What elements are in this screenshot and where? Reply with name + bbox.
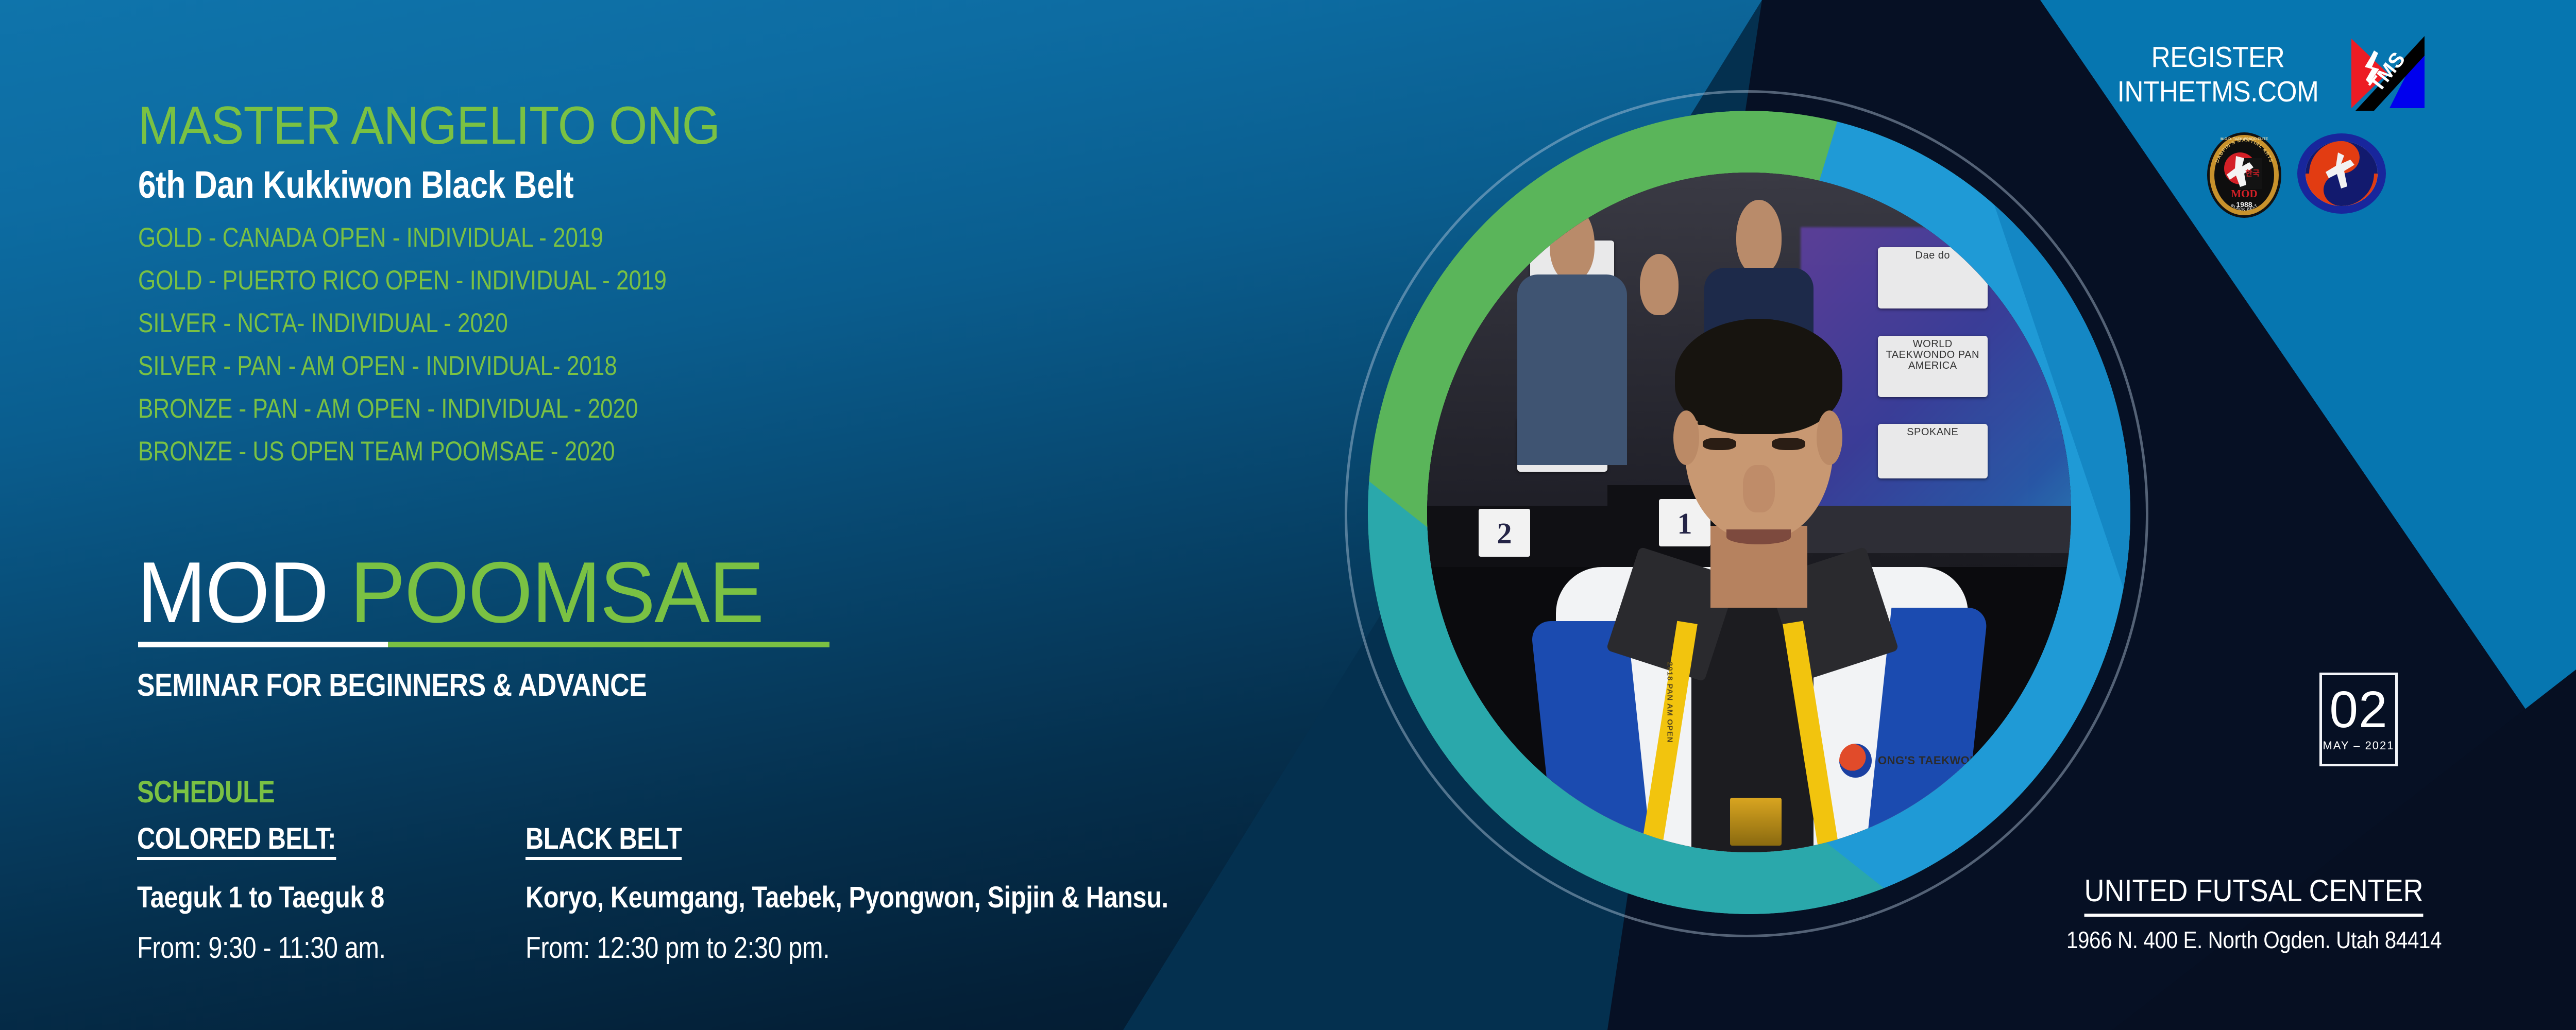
- award-item: BRONZE - US OPEN TEAM POOMSAE - 2020: [138, 438, 779, 465]
- photo-master-ear-left: [1673, 410, 1699, 465]
- event-date-day: 02: [2329, 686, 2387, 733]
- awards-list: GOLD - CANADA OPEN - INDIVIDUAL - 2019 G…: [138, 224, 911, 480]
- photo-sign: Dae do: [1878, 247, 1988, 308]
- photo-sign: SPOKANE: [1878, 424, 1988, 478]
- belt-heading: COLORED BELT:: [137, 824, 336, 860]
- photo-background-person: [1736, 200, 1782, 274]
- photo-frame: WTU WORLD TAEKWONDO ae do Dae do WORLD T…: [1427, 173, 2071, 852]
- event-title-part2: POOMSAE: [350, 544, 763, 641]
- ong-taekwondo-logo-icon: [2297, 133, 2387, 214]
- event-title-underline: [138, 642, 829, 647]
- underline-white-segment: [138, 642, 388, 647]
- photo-background-person-body: [1517, 274, 1627, 465]
- belt-heading: BLACK BELT: [526, 824, 682, 860]
- svg-text:1988: 1988: [2236, 200, 2252, 209]
- award-item: SILVER - NCTA- INDIVIDUAL - 2020: [138, 310, 779, 337]
- photo-jacket-patch: [1839, 744, 1872, 778]
- photo-medal: [1730, 798, 1782, 845]
- belt-forms: Koryo, Keumgang, Taebek, Pyongwon, Sipji…: [526, 883, 1348, 913]
- event-date-month-year: MAY – 2021: [2323, 739, 2394, 752]
- photo-color-ring: WTU WORLD TAEKWONDO ae do Dae do WORLD T…: [1368, 111, 2130, 914]
- venue-address: 1966 N. 400 E. North Ogden. Utah 84414: [2025, 928, 2483, 952]
- photo-podium-number: 2: [1479, 509, 1530, 556]
- register-callout[interactable]: REGISTER INTHETMS.COM: [2116, 40, 2320, 110]
- photo-background-person: [1550, 207, 1595, 281]
- master-photo: WTU WORLD TAEKWONDO ae do Dae do WORLD T…: [1427, 173, 2071, 852]
- award-item: GOLD - PUERTO RICO OPEN - INDIVIDUAL - 2…: [138, 267, 779, 294]
- mod-martial-arts-logo-icon: DABPIN'S MARTIAL ARTS BLACK BELT M.O.D. …: [2206, 131, 2282, 219]
- belt-time: From: 9:30 - 11:30 am.: [137, 933, 527, 963]
- award-item: SILVER - PAN - AM OPEN - INDIVIDUAL- 201…: [138, 352, 779, 380]
- event-title: MOD POOMSAE: [137, 549, 763, 636]
- register-label: REGISTER: [2116, 40, 2320, 75]
- photo-master-brow-left: [1698, 414, 1743, 425]
- svg-text:M.O.D. TAEKWONDO ELITE: M.O.D. TAEKWONDO ELITE: [2221, 138, 2268, 141]
- photo-master-nose: [1743, 465, 1775, 512]
- event-date-box: 02 MAY – 2021: [2319, 673, 2398, 766]
- event-subtitle: SEMINAR FOR BEGINNERS & ADVANCE: [137, 669, 647, 701]
- award-item: GOLD - CANADA OPEN - INDIVIDUAL - 2019: [138, 224, 779, 251]
- venue-block: UNITED FUTSAL CENTER 1966 N. 400 E. Nort…: [1994, 875, 2514, 952]
- photo-master-brow-right: [1769, 414, 1814, 425]
- underline-green-segment: [388, 642, 829, 647]
- photo-master-ear-right: [1817, 410, 1842, 465]
- schedule-label: SCHEDULE: [137, 777, 275, 808]
- register-url[interactable]: INTHETMS.COM: [2116, 75, 2320, 109]
- belt-time: From: 12:30 pm to 2:30 pm.: [526, 933, 1348, 963]
- tms-logo-icon: TMS: [2347, 36, 2426, 111]
- photo-sign: WORLD TAEKWONDO PAN AMERICA: [1878, 336, 1988, 397]
- belt-forms: Taeguk 1 to Taeguk 8: [137, 883, 527, 913]
- award-item: BRONZE - PAN - AM OPEN - INDIVIDUAL - 20…: [138, 395, 779, 422]
- master-name: MASTER ANGELITO ONG: [138, 99, 720, 152]
- photo-ribbon-text: 2018 PAN AM OPEN: [1666, 662, 1674, 743]
- photo-jacket-logo-text: ONG'S TAEKWONDO: [1878, 754, 1996, 767]
- schedule-column-black-belt: BLACK BELT Koryo, Keumgang, Taebek, Pyon…: [526, 824, 1504, 963]
- event-title-part1: MOD: [137, 544, 350, 641]
- svg-text:한국: 한국: [2245, 169, 2260, 178]
- photo-master-mouth: [1726, 529, 1791, 544]
- photo-background-person: [1640, 254, 1679, 315]
- master-rank: 6th Dan Kukkiwon Black Belt: [138, 166, 573, 204]
- venue-name: UNITED FUTSAL CENTER: [2084, 875, 2424, 917]
- photo-master-eye-right: [1772, 438, 1805, 450]
- svg-text:MOD: MOD: [2231, 187, 2257, 200]
- seminar-poster: WTU WORLD TAEKWONDO ae do Dae do WORLD T…: [0, 0, 2576, 1030]
- photo-master-eye-left: [1703, 438, 1736, 450]
